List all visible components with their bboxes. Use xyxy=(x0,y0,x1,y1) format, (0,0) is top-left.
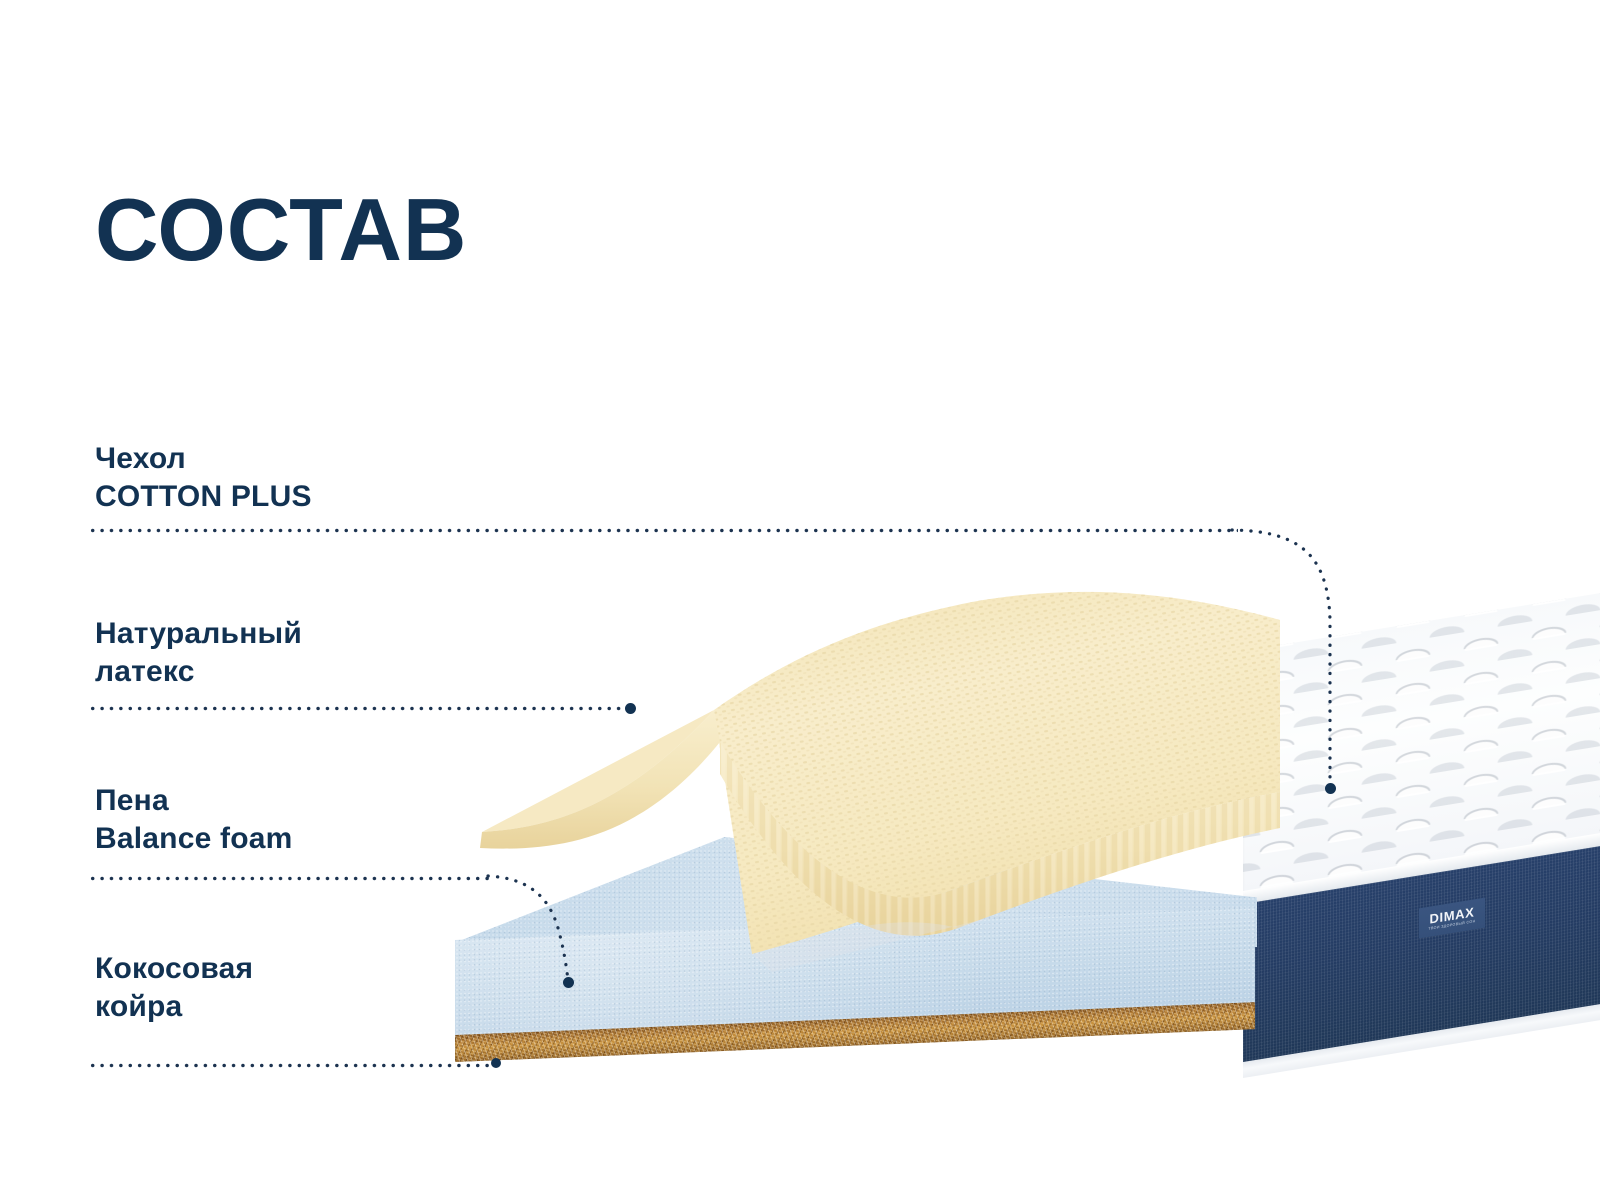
legend-coir-line1: Кокосовая xyxy=(95,952,253,985)
leader-line-coir xyxy=(88,1063,493,1068)
leader-dot-coir xyxy=(491,1058,501,1068)
layer-latex xyxy=(452,560,1282,960)
legend-label-coir: Кокосовая койра xyxy=(95,950,253,1027)
legend-cover-line2: COTTON PLUS xyxy=(95,478,312,516)
leader-dot-foam xyxy=(563,977,574,988)
leader-line-foam xyxy=(88,876,490,881)
composition-infographic: СОСТАВ DIMAX ТВОИ ЗДОРОВЫЙ СОН xyxy=(0,0,1600,1200)
legend-coir-line2: койра xyxy=(95,988,253,1026)
legend-latex-line2: латекс xyxy=(95,653,302,691)
legend-foam-line1: Пена xyxy=(95,784,169,817)
latex-sheet-svg xyxy=(452,560,1282,960)
leader-dot-latex xyxy=(625,703,636,714)
legend-foam-line2: Balance foam xyxy=(95,820,292,858)
legend-label-latex: Натуральный латекс xyxy=(95,615,302,692)
legend-label-cover: Чехол COTTON PLUS xyxy=(95,440,312,517)
legend-label-foam: Пена Balance foam xyxy=(95,782,292,859)
legend-cover-line1: Чехол xyxy=(95,442,186,475)
leader-line-latex xyxy=(88,706,624,711)
legend-latex-line1: Натуральный xyxy=(95,617,302,650)
leader-dot-cover xyxy=(1325,783,1336,794)
leader-line-cover xyxy=(88,528,1238,533)
